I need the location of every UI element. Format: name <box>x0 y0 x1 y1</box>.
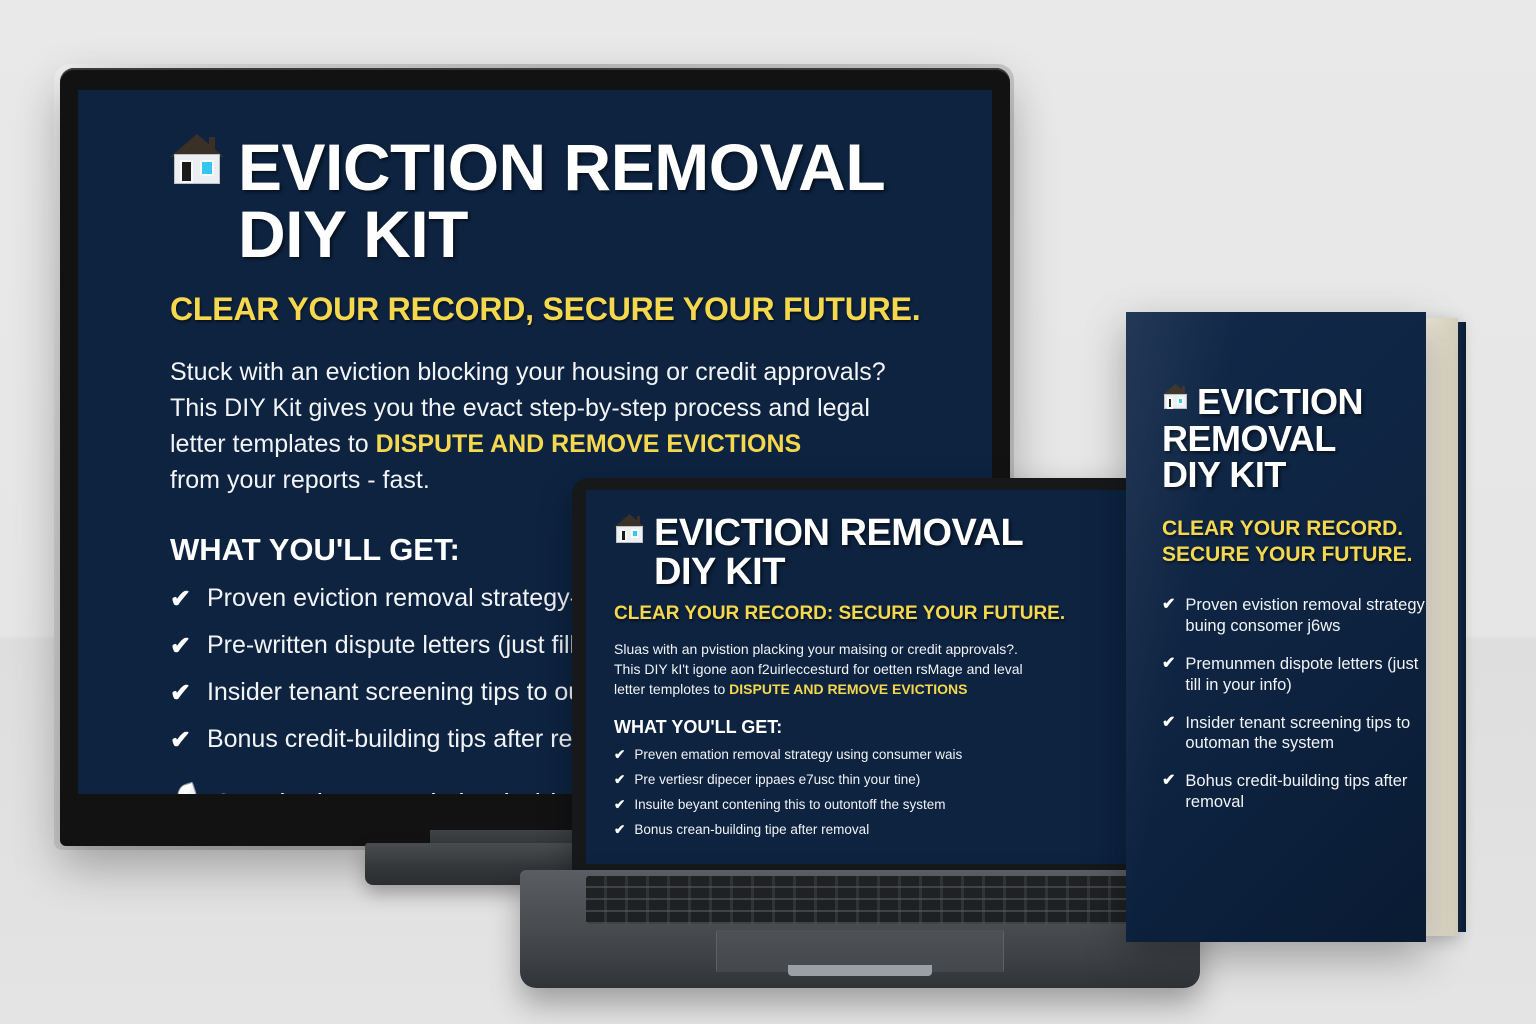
laptop-subtitle: CLEAR YOUR RECORD: SECURE YOUR FUTURE. <box>614 603 1134 625</box>
laptop-title: EVICTION REMOVAL DIY KIT <box>654 514 1023 592</box>
monitor-body-highlight: DISPUTE AND REMOVE EVICTIONS <box>376 430 802 458</box>
laptop-body-line3: letter templotes to DISPUTE AND REMOVE E… <box>614 679 1134 699</box>
list-item: ✔Pre vertiesr dipecer ippaes e7usc thin … <box>614 772 1134 788</box>
check-icon: ✔ <box>614 772 625 788</box>
list-item: ✔Insuite beyant contening this to outont… <box>614 797 1134 813</box>
laptop-lid-notch <box>788 965 932 976</box>
list-item: ✔Preven emation removal strategy using c… <box>614 747 1134 763</box>
monitor-title-line1: EVICTION REMOVAL <box>238 134 885 201</box>
monitor-title-line2: DIY KIT <box>238 201 885 268</box>
monitor-title-block: EVICTION REMOVAL DIY KIT <box>170 134 992 269</box>
monitor-body-line3-pre: letter templates to <box>170 430 376 458</box>
check-icon: ✔ <box>170 678 191 708</box>
check-icon: ✔ <box>170 631 191 661</box>
laptop-keyboard-rows <box>586 876 1134 924</box>
laptop-screen[interactable]: EVICTION REMOVAL DIY KIT CLEAR YOUR RECO… <box>586 490 1134 864</box>
laptop-section-heading: WHAT YOU'LL GET: <box>614 717 1134 738</box>
book-page-edges <box>1422 318 1458 936</box>
laptop-bullet-1: Pre vertiesr dipecer ippaes e7usc thin y… <box>634 772 920 787</box>
rocket-icon <box>170 783 204 794</box>
laptop-body-line3-pre: letter templotes to <box>614 681 729 697</box>
book-front-cover: EVICTION REMOVAL DIY KIT CLEAR YOUR RECO… <box>1126 312 1426 942</box>
house-icon <box>614 514 645 543</box>
book-cover: EVICTION REMOVAL DIY KIT CLEAR YOUR RECO… <box>1126 312 1486 942</box>
laptop-body: Sluas with an pvistion placking your mai… <box>614 639 1134 700</box>
monitor-body: Stuck with an eviction blocking your hou… <box>170 354 992 498</box>
house-icon <box>170 134 224 184</box>
laptop-bullet-2: Insuite beyant contening this to outonto… <box>634 797 945 812</box>
laptop-body-line2: This DIY kI't igone aon f2uirleccesturd … <box>614 659 1134 679</box>
check-icon: ✔ <box>170 584 191 614</box>
list-item: ✔Bonus crean-building tipe after removal <box>614 822 1134 838</box>
laptop: EVICTION REMOVAL DIY KIT CLEAR YOUR RECO… <box>520 478 1200 998</box>
book-cover-gloss <box>1126 312 1426 942</box>
laptop-body-line1: Sluas with an pvistion placking your mai… <box>614 639 1134 659</box>
laptop-screen-content: EVICTION REMOVAL DIY KIT CLEAR YOUR RECO… <box>586 490 1134 864</box>
check-icon: ✔ <box>614 822 625 838</box>
monitor-body-line1: Stuck with an eviction blocking your hou… <box>170 354 992 390</box>
laptop-title-block: EVICTION REMOVAL DIY KIT <box>614 514 1134 592</box>
monitor-title: EVICTION REMOVAL DIY KIT <box>238 134 885 269</box>
monitor-body-line3: letter templates to DISPUTE AND REMOVE E… <box>170 426 992 462</box>
laptop-title-line2: DIY KIT <box>654 553 1023 592</box>
laptop-title-line1: EVICTION REMOVAL <box>654 514 1023 553</box>
check-icon: ✔ <box>614 747 625 763</box>
laptop-bullet-3: Bonus crean-building tipe after removal <box>634 822 869 837</box>
laptop-body-highlight: DISPUTE AND REMOVE EVICTIONS <box>729 681 967 697</box>
monitor-subtitle: CLEAR YOUR RECORD, SECURE YOUR FUTURE. <box>170 291 992 328</box>
laptop-bullet-0: Preven emation removal strategy using co… <box>634 747 962 762</box>
check-icon: ✔ <box>614 797 625 813</box>
monitor-body-line2: This DIY Kit gives you the evact step-by… <box>170 390 992 426</box>
laptop-benefit-list: ✔Preven emation removal strategy using c… <box>614 747 1134 838</box>
check-icon: ✔ <box>170 725 191 755</box>
